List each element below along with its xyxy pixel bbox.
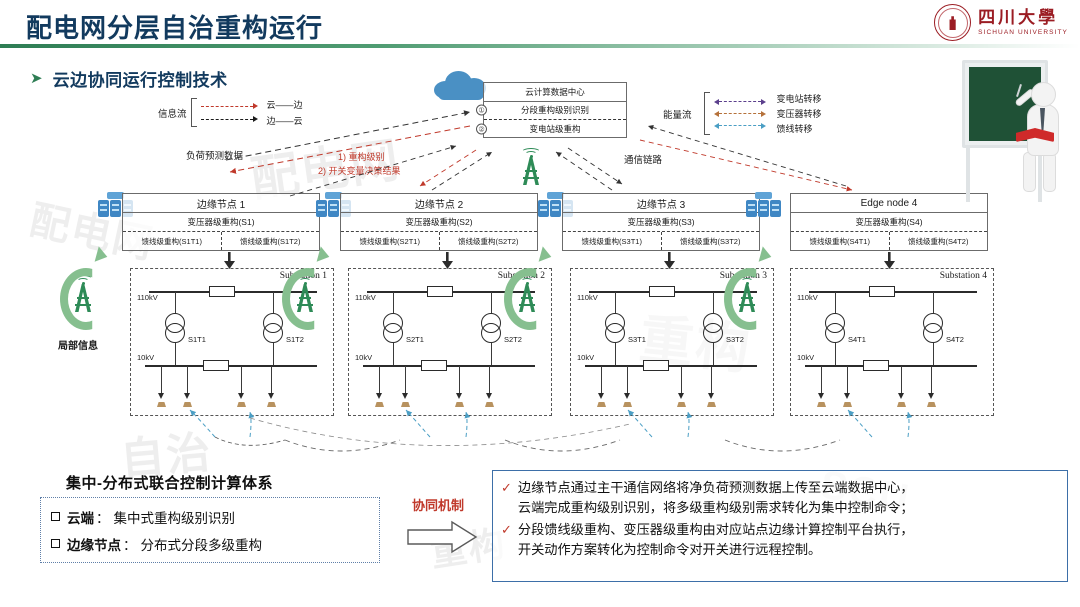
hv-bus-switch-4[interactable] xyxy=(869,286,895,297)
legend-arrow-samples xyxy=(201,103,258,122)
local-info-arc-head-4 xyxy=(759,246,774,264)
edge-node-transformer-1: 变压器级重构(S1) xyxy=(123,213,319,232)
lv-bus-switch-4[interactable] xyxy=(863,360,889,371)
load-forecast-label: 负荷预测数据 xyxy=(186,148,243,162)
legend-brace xyxy=(704,92,710,135)
square-bullet-icon xyxy=(51,512,60,521)
transformer-2-2 xyxy=(481,313,501,343)
local-info-label: 局部信息 xyxy=(58,337,98,352)
substation-diagram-4[interactable]: Substation 4 110kV S4T1 S4T2 10kV xyxy=(790,268,994,416)
university-seal-icon xyxy=(934,4,971,41)
transformer-3-2 xyxy=(703,313,723,343)
coop-mechanism-label: 协同机制 xyxy=(412,495,464,514)
substation-hv-label-2: 110kV xyxy=(355,293,376,302)
energy-flow-legend-label-2: 馈线转移 xyxy=(777,122,822,135)
edge-node-feeder-3-1: 馈线级重构(S3T2) xyxy=(662,232,760,250)
local-info-arc-head-2 xyxy=(317,246,332,264)
check-icon: ✓ xyxy=(501,520,512,560)
bottom-left-item-0: 云端 ： 集中式重构级别识别 xyxy=(51,507,369,527)
cloud-row-label-1: 分段重构级别识别 xyxy=(521,104,589,116)
legend-arrow-cloud-to-edge xyxy=(201,103,258,109)
cloud-data-center-card[interactable]: 云计算数据中心 ① 分段重构级别识别 ② 变电站级重构 xyxy=(483,82,627,138)
cloud-card-row-2: ② 变电站级重构 xyxy=(484,120,626,139)
legend-arrow-feeder-transfer xyxy=(714,123,766,129)
cloud-row-label-2: 变电站级重构 xyxy=(529,123,580,135)
lv-bus-switch-1[interactable] xyxy=(203,360,229,371)
info-flow-legend-label-0: 云——边 xyxy=(267,98,303,111)
br-1-line-0: 分段馈线级重构、变压器级重构由对应站点边缘计算控制平台执行， xyxy=(518,520,914,540)
section-heading: ➤ 云边协同运行控制技术 xyxy=(30,66,228,91)
bottom-left-title: 集中-分布式联合控制计算体系 xyxy=(66,472,273,493)
check-icon: ✓ xyxy=(501,478,512,518)
page-title: 配电网分层自治重构运行 xyxy=(26,8,323,45)
chevron-right-icon: ➤ xyxy=(30,71,43,86)
cloud-card-title: 云计算数据中心 xyxy=(525,86,585,98)
edge-node-feeder-4-0: 馈线级重构(S4T1) xyxy=(791,232,890,250)
legend-arrow-transformer-transfer xyxy=(714,111,766,117)
substation-hv-label-1: 110kV xyxy=(137,293,158,302)
bottom-left-desc-0: 集中式重构级别识别 xyxy=(114,507,236,527)
legend-arrow-edge-to-cloud xyxy=(201,116,258,122)
edge-node-transformer-4: 变压器级重构(S4) xyxy=(791,213,987,232)
teacher-blackboard-illustration xyxy=(960,56,1076,204)
figure-leg-right xyxy=(1043,152,1056,192)
edge-node-card-3[interactable]: 边缘节点 3 变压器级重构(S3) 馈线级重构(S3T1) 馈线级重构(S3T2… xyxy=(562,193,760,251)
legend-arrow-substation-transfer xyxy=(714,99,766,105)
transformer-2-1 xyxy=(383,313,403,343)
figure-head xyxy=(1031,82,1056,107)
edge-node-feeder-2-0: 馈线级重构(S2T1) xyxy=(341,232,440,250)
comm-link-label: 通信链路 xyxy=(624,152,662,166)
edge-node-card-1[interactable]: 边缘节点 1 变压器级重构(S1) 馈线级重构(S1T1) 馈线级重构(S1T2… xyxy=(122,193,320,251)
figure-leg-left xyxy=(1023,152,1036,192)
edge-node-card-4[interactable]: Edge node 4 变压器级重构(S4) 馈线级重构(S4T1) 馈线级重构… xyxy=(790,193,988,251)
substation-title-4: Substation 4 xyxy=(940,271,987,281)
annotation-1: 1) 重构级别 xyxy=(338,150,385,163)
section-heading-label: 云边协同运行控制技术 xyxy=(53,66,228,91)
right-arrow-outline-icon xyxy=(406,520,478,554)
square-bullet-icon xyxy=(51,539,60,548)
bottom-left-desc-1: 分布式分段多级重构 xyxy=(141,534,263,554)
bottom-left-box: 云端 ： 集中式重构级别识别 边缘节点 ： 分布式分段多级重构 xyxy=(40,497,380,563)
substation-lv-label-1: 10kV xyxy=(137,353,154,362)
transformer-4-1 xyxy=(825,313,845,343)
bottom-right-item-0: ✓ 边缘节点通过主干通信网络将净负荷预测数据上传至云端数据中心， 云端完成重构级… xyxy=(501,478,1057,518)
transformer-1-2 xyxy=(263,313,283,343)
br-0-line-1: 云端完成重构级别识别，将多级重构级别需求转化为集中控制命令； xyxy=(518,498,914,518)
cloud-card-row-1: ① 分段重构级别识别 xyxy=(484,102,626,121)
edge-node-title-1: 边缘节点 1 xyxy=(123,194,319,213)
edge-node-feeder-1-0: 馈线级重构(S1T1) xyxy=(123,232,222,250)
bottom-left-item-1: 边缘节点 ： 分布式分段多级重构 xyxy=(51,534,369,554)
local-info-arc-head-1 xyxy=(95,246,110,264)
edge-node-feeder-4-1: 馈线级重构(S4T2) xyxy=(890,232,988,250)
substation-hv-label-4: 110kV xyxy=(797,293,818,302)
edge-node-feeder-3-0: 馈线级重构(S3T1) xyxy=(563,232,662,250)
bottom-right-panel: ✓ 边缘节点通过主干通信网络将净负荷预测数据上传至云端数据中心， 云端完成重构级… xyxy=(492,470,1068,582)
lv-bus-switch-3[interactable] xyxy=(643,360,669,371)
substation-lv-label-2: 10kV xyxy=(355,353,372,362)
bottom-left-term-0: 云端 xyxy=(67,507,94,527)
lv-bus-switch-2[interactable] xyxy=(421,360,447,371)
server-icon-node-4 xyxy=(744,192,784,218)
edge-node-card-2[interactable]: 边缘节点 2 变压器级重构(S2) 馈线级重构(S2T1) 馈线级重构(S2T2… xyxy=(340,193,538,251)
info-flow-legend-label-1: 边——云 xyxy=(267,114,303,127)
br-1-line-1: 开关动作方案转化为控制命令对开关进行远程控制。 xyxy=(518,540,914,560)
edge-node-feeder-2-1: 馈线级重构(S2T2) xyxy=(440,232,538,250)
local-info-arc-1 xyxy=(60,268,112,330)
university-logo: 四川大學 SICHUAN UNIVERSITY xyxy=(934,4,1068,41)
transformer-label-2-1: S2T1 xyxy=(406,335,424,344)
transformer-1-1 xyxy=(165,313,185,343)
edge-node-title-2: 边缘节点 2 xyxy=(341,194,537,213)
cloud-icon xyxy=(432,68,490,102)
annotation-2: 2) 开关变量决策结果 xyxy=(318,164,401,177)
transformer-3-1 xyxy=(605,313,625,343)
logo-name-cn: 四川大學 xyxy=(978,9,1068,26)
edge-node-feeder-1-1: 馈线级重构(S1T2) xyxy=(222,232,320,250)
bottom-right-item-1: ✓ 分段馈线级重构、变压器级重构由对应站点边缘计算控制平台执行， 开关动作方案转… xyxy=(501,520,1057,560)
transformer-label-2-2: S2T2 xyxy=(504,335,522,344)
transformer-label-1-1: S1T1 xyxy=(188,335,206,344)
cloud-card-title-row: 云计算数据中心 xyxy=(484,83,626,102)
edge-node-title-3: 边缘节点 3 xyxy=(563,194,759,213)
info-flow-legend: 信息流 云——边 边——云 xyxy=(158,98,303,127)
substation-lv-label-3: 10kV xyxy=(577,353,594,362)
info-flow-legend-title: 信息流 xyxy=(158,106,187,120)
local-info-arc-head-3 xyxy=(539,246,554,264)
transformer-label-3-1: S3T1 xyxy=(628,335,646,344)
cloud-row-number-1: ① xyxy=(476,105,487,116)
energy-flow-legend-title: 能量流 xyxy=(663,107,692,121)
transformer-label-3-2: S3T2 xyxy=(726,335,744,344)
bottom-left-sep-1: ： xyxy=(123,534,137,554)
transformer-label-4-2: S4T2 xyxy=(946,335,964,344)
edge-node-transformer-2: 变压器级重构(S2) xyxy=(341,213,537,232)
transformer-label-4-1: S4T1 xyxy=(848,335,866,344)
central-comm-tower-icon xyxy=(516,148,546,190)
legend-brace xyxy=(191,98,197,127)
energy-flow-legend: 能量流 变电站转移 变压器转移 馈线转移 xyxy=(663,92,822,135)
hv-bus-switch-3[interactable] xyxy=(649,286,675,297)
bottom-left-term-1: 边缘节点 xyxy=(67,534,121,554)
bottom-left-sep-0: ： xyxy=(96,507,110,527)
substation-hv-label-3: 110kV xyxy=(577,293,598,302)
transformer-4-2 xyxy=(923,313,943,343)
legend-arrow-samples xyxy=(714,99,766,129)
header-divider xyxy=(0,44,1080,48)
cloud-row-number-2: ② xyxy=(476,124,487,135)
transformer-label-1-2: S1T2 xyxy=(286,335,304,344)
hv-bus-switch-2[interactable] xyxy=(427,286,453,297)
energy-flow-legend-label-1: 变压器转移 xyxy=(777,107,822,120)
edge-node-transformer-3: 变压器级重构(S3) xyxy=(563,213,759,232)
logo-name-en: SICHUAN UNIVERSITY xyxy=(978,29,1068,36)
edge-node-title-4: Edge node 4 xyxy=(791,194,987,213)
br-0-line-0: 边缘节点通过主干通信网络将净负荷预测数据上传至云端数据中心， xyxy=(518,478,914,498)
slide-canvas: 配电网 重构 自治 SCU 配电网 重构 配电网分层自治重构运行 四川大學 SI… xyxy=(0,0,1080,607)
hv-bus-switch-1[interactable] xyxy=(209,286,235,297)
energy-flow-legend-label-0: 变电站转移 xyxy=(777,92,822,105)
substation-lv-label-4: 10kV xyxy=(797,353,814,362)
